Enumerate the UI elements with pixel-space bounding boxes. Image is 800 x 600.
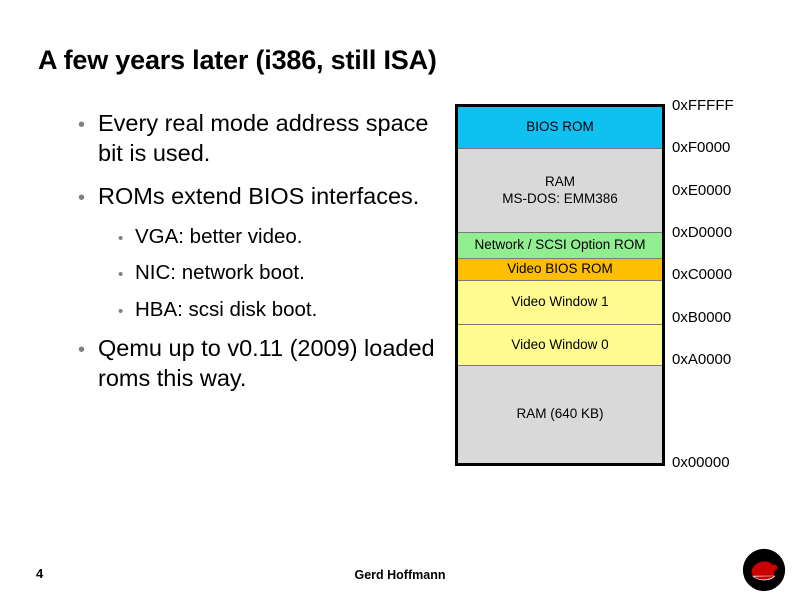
memory-segment-label: Video Window 1 <box>511 294 608 310</box>
memory-segment-label: BIOS ROM <box>526 119 594 135</box>
bullet-dot-icon: • <box>118 260 135 282</box>
bullet-text: Every real mode address space bit is use… <box>98 108 438 168</box>
bullet-item: •Every real mode address space bit is us… <box>78 108 438 168</box>
bullet-text: NIC: network boot. <box>135 260 438 286</box>
bullet-text: VGA: better video. <box>135 224 438 250</box>
memory-segment-label: Network / SCSI Option ROM <box>474 237 645 253</box>
address-label: 0x00000 <box>672 454 730 471</box>
bullet-item: •VGA: better video. <box>78 224 438 250</box>
memory-segment: BIOS ROM <box>458 107 662 149</box>
bullet-dot-icon: • <box>78 333 98 360</box>
memory-segment: Video Window 0 <box>458 325 662 366</box>
address-label: 0xC0000 <box>672 266 732 283</box>
address-label: 0xB0000 <box>672 309 731 326</box>
footer-author: Gerd Hoffmann <box>0 568 800 582</box>
bullet-dot-icon: • <box>78 181 98 208</box>
memory-segment: RAMMS-DOS: EMM386 <box>458 149 662 233</box>
page-title: A few years later (i386, still ISA) <box>38 45 658 76</box>
address-label: 0xE0000 <box>672 182 731 199</box>
memory-segment: Video BIOS ROM <box>458 259 662 281</box>
bullet-text: Qemu up to v0.11 (2009) loaded roms this… <box>98 333 438 393</box>
address-label: 0xFFFFF <box>672 97 734 114</box>
bullet-dot-icon: • <box>118 297 135 319</box>
bullet-text: ROMs extend BIOS interfaces. <box>98 181 438 211</box>
address-label: 0xD0000 <box>672 224 732 241</box>
memory-segment: Network / SCSI Option ROM <box>458 233 662 259</box>
memory-segment-label: RAM (640 KB) <box>516 406 603 422</box>
memory-segment: Video Window 1 <box>458 281 662 325</box>
address-label: 0xA0000 <box>672 351 731 368</box>
address-ruler: 0xFFFFF0xF00000xE00000xD00000xC00000xB00… <box>672 95 792 485</box>
bullet-dot-icon: • <box>118 224 135 246</box>
memory-map-diagram: BIOS ROMRAMMS-DOS: EMM386Network / SCSI … <box>455 104 665 466</box>
bullet-item: •NIC: network boot. <box>78 260 438 286</box>
bullet-item: •HBA: scsi disk boot. <box>78 297 438 323</box>
memory-segment-label: Video BIOS ROM <box>507 261 613 277</box>
memory-segment-label: RAM <box>545 174 575 190</box>
memory-segment-label: Video Window 0 <box>511 337 608 353</box>
memory-segment: RAM (640 KB) <box>458 366 662 463</box>
bullet-list: •Every real mode address space bit is us… <box>78 108 438 406</box>
memory-segment-sublabel: MS-DOS: EMM386 <box>502 191 618 207</box>
bullet-item: •ROMs extend BIOS interfaces. <box>78 181 438 211</box>
address-label: 0xF0000 <box>672 139 730 156</box>
bullet-text: HBA: scsi disk boot. <box>135 297 438 323</box>
bullet-item: •Qemu up to v0.11 (2009) loaded roms thi… <box>78 333 438 393</box>
red-hat-shadowman-logo <box>742 548 786 592</box>
bullet-dot-icon: • <box>78 108 98 135</box>
